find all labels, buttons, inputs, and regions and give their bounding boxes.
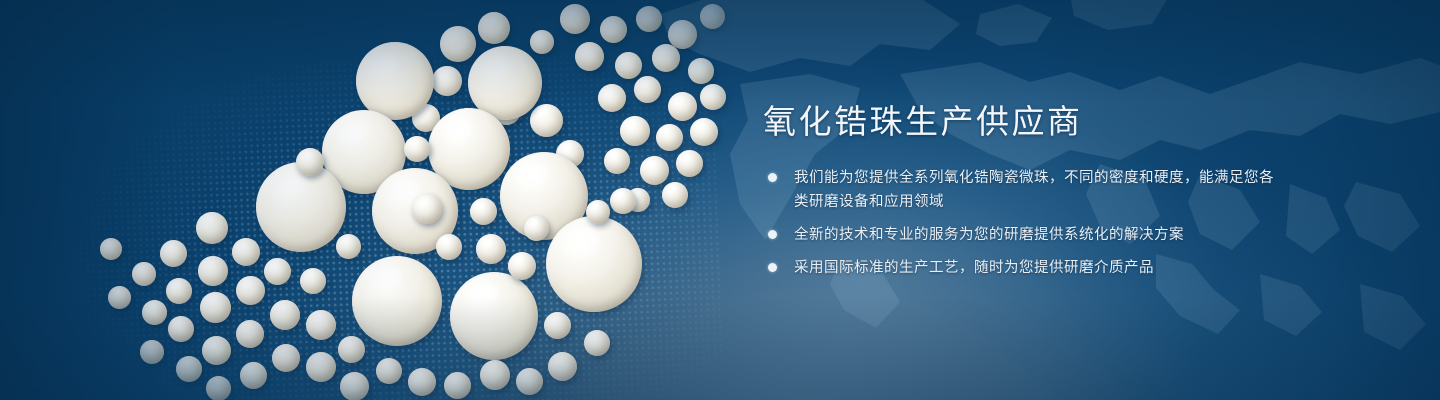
list-item: 全新的技术和专业的服务为您的研磨提供系统化的解决方案 <box>763 223 1283 247</box>
banner-content: 氧化锆珠生产供应商 我们能为您提供全系列氧化锆陶瓷微珠，不同的密度和硬度，能满足… <box>763 104 1283 289</box>
banner-feature-list: 我们能为您提供全系列氧化锆陶瓷微珠，不同的密度和硬度，能满足您各类研磨设备和应用… <box>763 166 1283 280</box>
list-item-label: 采用国际标准的生产工艺，随时为您提供研磨介质产品 <box>794 256 1154 280</box>
list-item: 采用国际标准的生产工艺，随时为您提供研磨介质产品 <box>763 256 1283 280</box>
bullet-dot-icon <box>768 263 777 272</box>
bullet-dot-icon <box>768 173 777 182</box>
bullet-dot-icon <box>768 230 777 239</box>
list-item-label: 全新的技术和专业的服务为您的研磨提供系统化的解决方案 <box>794 223 1184 247</box>
hero-banner: 氧化锆珠生产供应商 我们能为您提供全系列氧化锆陶瓷微珠，不同的密度和硬度，能满足… <box>0 0 1440 400</box>
list-item: 我们能为您提供全系列氧化锆陶瓷微珠，不同的密度和硬度，能满足您各类研磨设备和应用… <box>763 166 1283 214</box>
banner-headline: 氧化锆珠生产供应商 <box>763 104 1283 140</box>
list-item-label: 我们能为您提供全系列氧化锆陶瓷微珠，不同的密度和硬度，能满足您各类研磨设备和应用… <box>794 166 1283 214</box>
